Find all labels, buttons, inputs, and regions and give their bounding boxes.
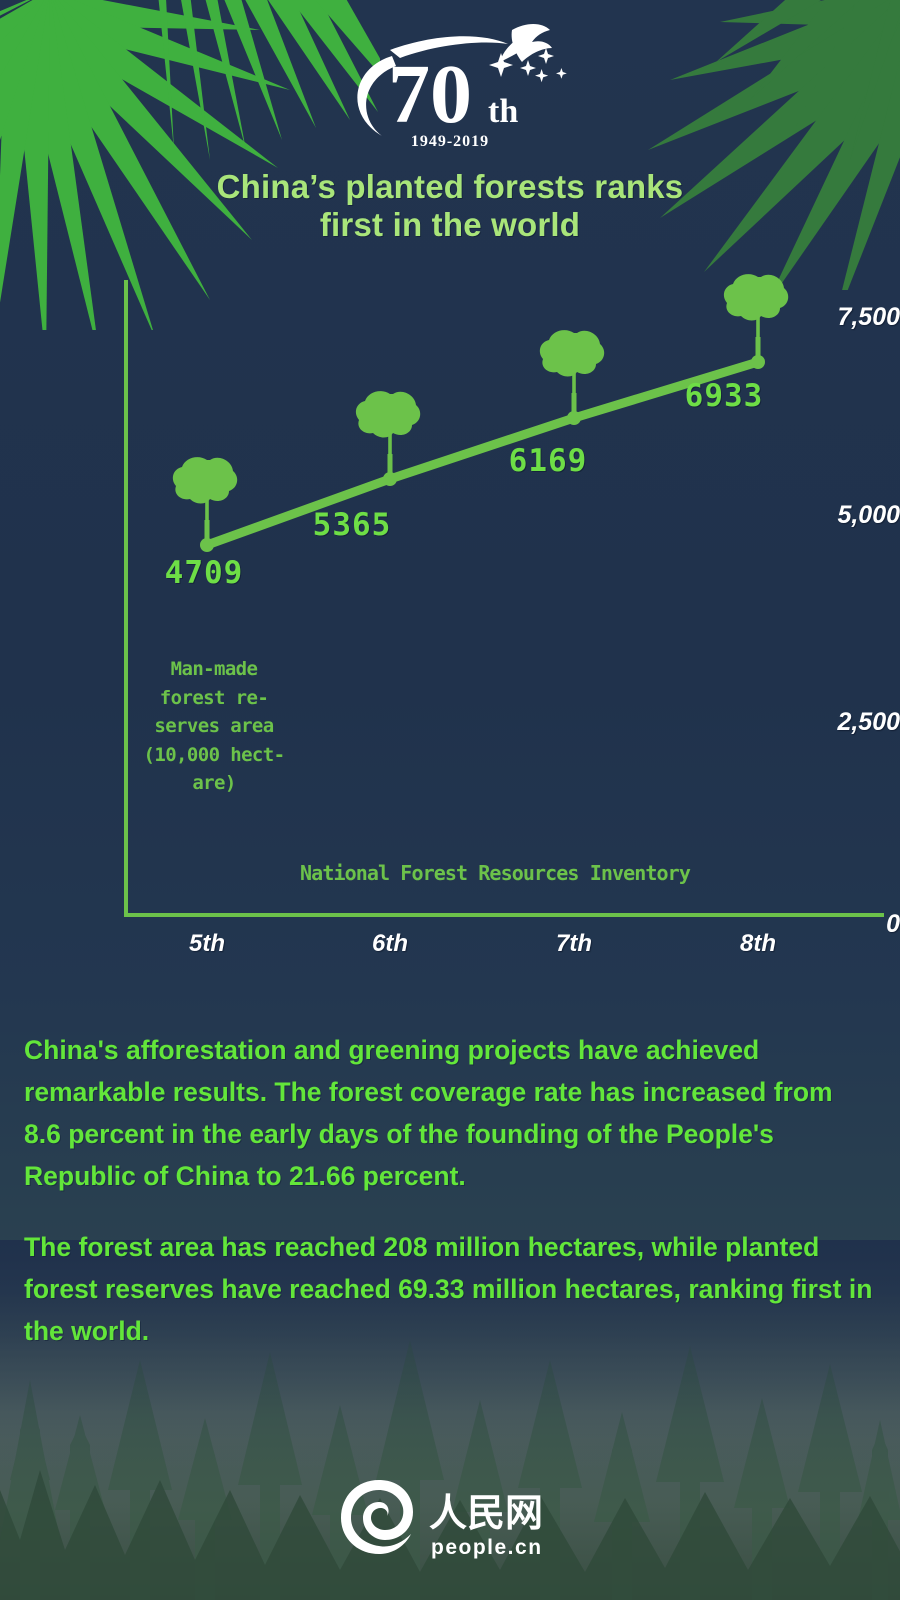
tree-icon	[173, 457, 237, 520]
x-axis-title: National Forest Resources Inventory	[285, 861, 705, 885]
data-label-6933: 6933	[644, 378, 804, 414]
x-axis-tick-5th: 5th	[147, 930, 267, 958]
chart-plot-area	[0, 0, 900, 1000]
y-axis-title-line-5: are)	[134, 769, 294, 798]
tree-icon	[724, 274, 788, 337]
x-axis-tick-7th: 7th	[514, 930, 634, 958]
y-axis-title-line-1: Man-made	[134, 655, 294, 684]
x-axis-tick-6th: 6th	[330, 930, 450, 958]
y-axis-title-line-2: forest re-	[134, 684, 294, 713]
tree-icon	[356, 391, 420, 454]
y-axis-title-line-3: serves area	[134, 712, 294, 741]
data-label-4709: 4709	[124, 555, 284, 591]
footer-brand-cn: 人民网	[429, 1491, 543, 1535]
people-daily-logo: 人民网 people.cn	[335, 1476, 565, 1562]
data-point-2	[383, 472, 397, 486]
people-daily-swirl-icon	[341, 1480, 413, 1554]
data-point-1	[200, 538, 214, 552]
y-axis-title-line-4: (10,000 hect-	[134, 741, 294, 770]
data-point-4	[751, 355, 765, 369]
data-point-3	[567, 411, 581, 425]
data-label-5365: 5365	[272, 507, 432, 543]
y-axis-title: Man-made forest re- serves area (10,000 …	[134, 655, 294, 798]
line-chart: 7,500 5,000 2,500 0	[0, 0, 900, 1000]
infographic-canvas: 70 th 1949-2019 China’s planted forests …	[0, 0, 900, 1600]
body-paragraph-1: China's afforestation and greening proje…	[24, 1030, 876, 1197]
body-paragraph-2: The forest area has reached 208 million …	[24, 1227, 876, 1353]
data-label-6169: 6169	[468, 443, 628, 479]
x-axis-tick-8th: 8th	[698, 930, 818, 958]
tree-icon	[540, 330, 604, 393]
footer-brand: 人民网 people.cn	[0, 1476, 900, 1562]
body-copy: China's afforestation and greening proje…	[24, 1030, 876, 1353]
footer-brand-en: people.cn	[431, 1536, 543, 1559]
